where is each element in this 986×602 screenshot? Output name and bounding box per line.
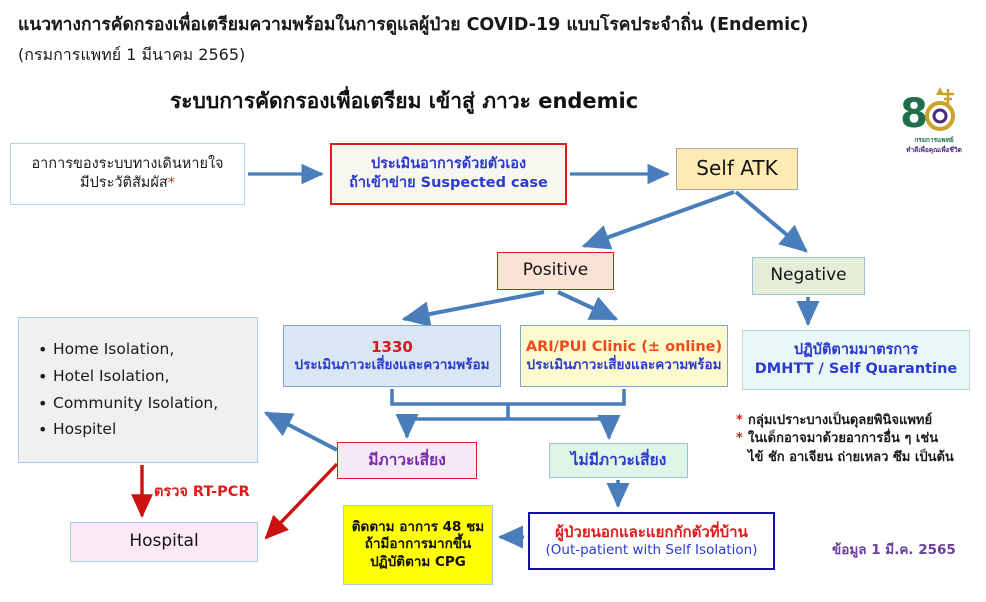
hotline-desc: ประเมินภาวะเสี่ยงและความพร้อม xyxy=(295,357,490,374)
diagram-canvas: แนวทางการคัดกรองเพื่อเตรียมความพร้อมในกา… xyxy=(0,0,986,602)
footnote-1: *กลุ่มเปราะบางเป็นดุลยพินิจแพทย์ xyxy=(736,412,980,430)
isolation-options-list: Home Isolation, Hotel Isolation, Communi… xyxy=(35,336,218,443)
node-out-patient-self-isolation[interactable]: ผู้ป่วยนอกและแยกกักตัวที่บ้าน (Out-patie… xyxy=(528,512,775,570)
edge-assessment-merge-bus xyxy=(392,389,624,404)
selfassess-line1: ประเมินอาการด้วยตัวเอง xyxy=(371,155,526,174)
selfassess-line2: ถ้าเข้าข่าย Suspected case xyxy=(349,174,548,193)
norisk-label: ไม่มีภาวะเสี่ยง xyxy=(571,451,667,471)
node-respiratory-symptoms[interactable]: อาการของระบบทางเดินหายใจ มีประวัติสัมผัส… xyxy=(10,143,245,205)
logo-80-icon: 8 xyxy=(890,83,978,141)
dmhtt-line2: DMHTT / Self Quarantine xyxy=(755,360,957,379)
node-no-risk[interactable]: ไม่มีภาวะเสี่ยง xyxy=(549,443,688,478)
data-date-note: ข้อมูล 1 มี.ค. 2565 xyxy=(832,538,956,560)
hasrisk-label: มีภาวะเสี่ยง xyxy=(368,451,446,471)
edge-positive-to-1330 xyxy=(404,292,544,319)
asterisk-marker: * xyxy=(168,175,175,191)
asterisk-icon: * xyxy=(736,430,743,448)
edge-positive-to-aripui xyxy=(558,292,616,319)
logo-org-name: กรมการแพทย์ xyxy=(890,135,978,145)
node-self-atk[interactable]: Self ATK xyxy=(676,148,798,190)
dmhtt-line1: ปฏิบัติตามมาตรการ xyxy=(794,341,918,360)
node-self-assessment[interactable]: ประเมินอาการด้วยตัวเอง ถ้าเข้าข่าย Suspe… xyxy=(330,143,567,205)
list-item: Hotel Isolation, xyxy=(53,363,218,390)
followup-line3: ปฏิบัติตาม CPG xyxy=(370,554,466,571)
list-item: Community Isolation, xyxy=(53,390,218,417)
edge-selfatk-to-negative xyxy=(736,192,806,251)
edge-hasrisk-to-hospital xyxy=(266,464,337,538)
list-item: Home Isolation, xyxy=(53,336,218,363)
node-isolation-options[interactable]: Home Isolation, Hotel Isolation, Communi… xyxy=(18,317,258,463)
hotline-number: 1330 xyxy=(371,338,413,357)
node-ari-pui-clinic[interactable]: ARI/PUI Clinic (± online) ประเมินภาวะเสี… xyxy=(520,325,728,387)
footnote-1-text: กลุ่มเปราะบางเป็นดุลยพินิจแพทย์ xyxy=(748,413,932,428)
node-hospital[interactable]: Hospital xyxy=(70,522,258,562)
node-hotline-1330[interactable]: 1330 ประเมินภาวะเสี่ยงและความพร้อม xyxy=(283,325,501,387)
edge-hasrisk-to-isolation xyxy=(266,413,337,450)
node-positive[interactable]: Positive xyxy=(497,252,614,290)
logo-org-slogan: ทำดีเพื่อคุณเพื่อชีวิต xyxy=(890,145,978,155)
selfatk-label: Self ATK xyxy=(696,156,777,182)
node-dmhtt-measures[interactable]: ปฏิบัติตามมาตรการ DMHTT / Self Quarantin… xyxy=(742,330,970,390)
symptoms-line2: มีประวัติสัมผัส* xyxy=(80,174,175,193)
symptoms-line1: อาการของระบบทางเดินหายใจ xyxy=(31,155,223,174)
footnote-2-continued: ไข้ ชัก อาเจียน ถ่ายเหลว ซึม เป็นต้น xyxy=(736,449,980,467)
department-logo: 8 กรมการแพทย์ ทำดีเพื่อคุณเพื่อชีวิต xyxy=(890,83,978,155)
footnote-2: *ในเด็กอาจมาด้วยอาการอื่น ๆ เช่น xyxy=(736,430,980,448)
list-item: Hospitel xyxy=(53,417,218,444)
edge-selfatk-to-positive xyxy=(584,192,734,246)
followup-line2: ถ้ามีอาการมากขึ้น xyxy=(365,536,471,553)
aripui-title: ARI/PUI Clinic (± online) xyxy=(526,338,722,357)
page-title: แนวทางการคัดกรองเพื่อเตรียมความพร้อมในกา… xyxy=(18,10,809,38)
node-follow-up-48h[interactable]: ติดตาม อาการ 48 ชม ถ้ามีอาการมากขึ้น ปฏิ… xyxy=(343,505,493,585)
edge-label-rt-pcr: ตรวจ RT-PCR xyxy=(154,480,250,503)
page-subtitle-source: (กรมการแพทย์ 1 มีนาคม 2565) xyxy=(18,43,245,68)
positive-label: Positive xyxy=(523,260,589,282)
asterisk-icon: * xyxy=(736,412,743,430)
footnote-2-text: ในเด็กอาจมาด้วยอาการอื่น ๆ เช่น xyxy=(748,431,938,446)
hospital-label: Hospital xyxy=(129,531,198,553)
negative-label: Negative xyxy=(770,265,846,287)
node-has-risk[interactable]: มีภาวะเสี่ยง xyxy=(337,442,477,479)
diagram-heading: ระบบการคัดกรองเพื่อเตรียม เข้าสู่ ภาวะ e… xyxy=(170,85,638,118)
outpatient-line2: (Out-patient with Self Isolation) xyxy=(546,542,758,559)
svg-text:8: 8 xyxy=(900,91,928,137)
outpatient-line1: ผู้ป่วยนอกและแยกกักตัวที่บ้าน xyxy=(555,523,748,542)
node-negative[interactable]: Negative xyxy=(752,257,865,295)
aripui-desc: ประเมินภาวะเสี่ยงและความพร้อม xyxy=(527,357,722,374)
footnotes-block: *กลุ่มเปราะบางเป็นดุลยพินิจแพทย์ *ในเด็ก… xyxy=(736,412,980,467)
followup-line1: ติดตาม อาการ 48 ชม xyxy=(352,519,484,536)
